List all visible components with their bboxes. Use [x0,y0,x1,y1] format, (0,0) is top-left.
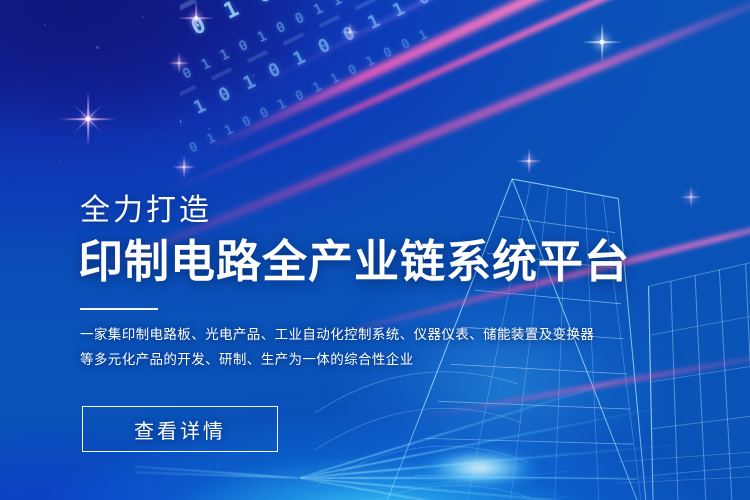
hero-description: 一家集印制电路板、光电产品、工业自动化控制系统、仪器仪表、储能装置及变换器 等多… [80,322,594,372]
hero-description-line-1: 一家集印制电路板、光电产品、工业自动化控制系统、仪器仪表、储能装置及变换器 [80,322,594,347]
view-details-button[interactable]: 查看详情 [82,406,278,452]
hero-description-line-2: 等多元化产品的开发、研制、生产为一体的综合性企业 [80,347,594,372]
hero-headline: 印制电路全产业链系统平台 [78,238,630,285]
hero-banner: 1 0 1 0 0 1 1 0 1 0 1 1 0 0 1 0 1 0 1 1 … [0,0,750,500]
hero-content: 全力打造 印制电路全产业链系统平台 一家集印制电路板、光电产品、工业自动化控制系… [0,0,750,500]
hero-eyebrow: 全力打造 [80,196,212,226]
hero-divider [80,308,158,310]
